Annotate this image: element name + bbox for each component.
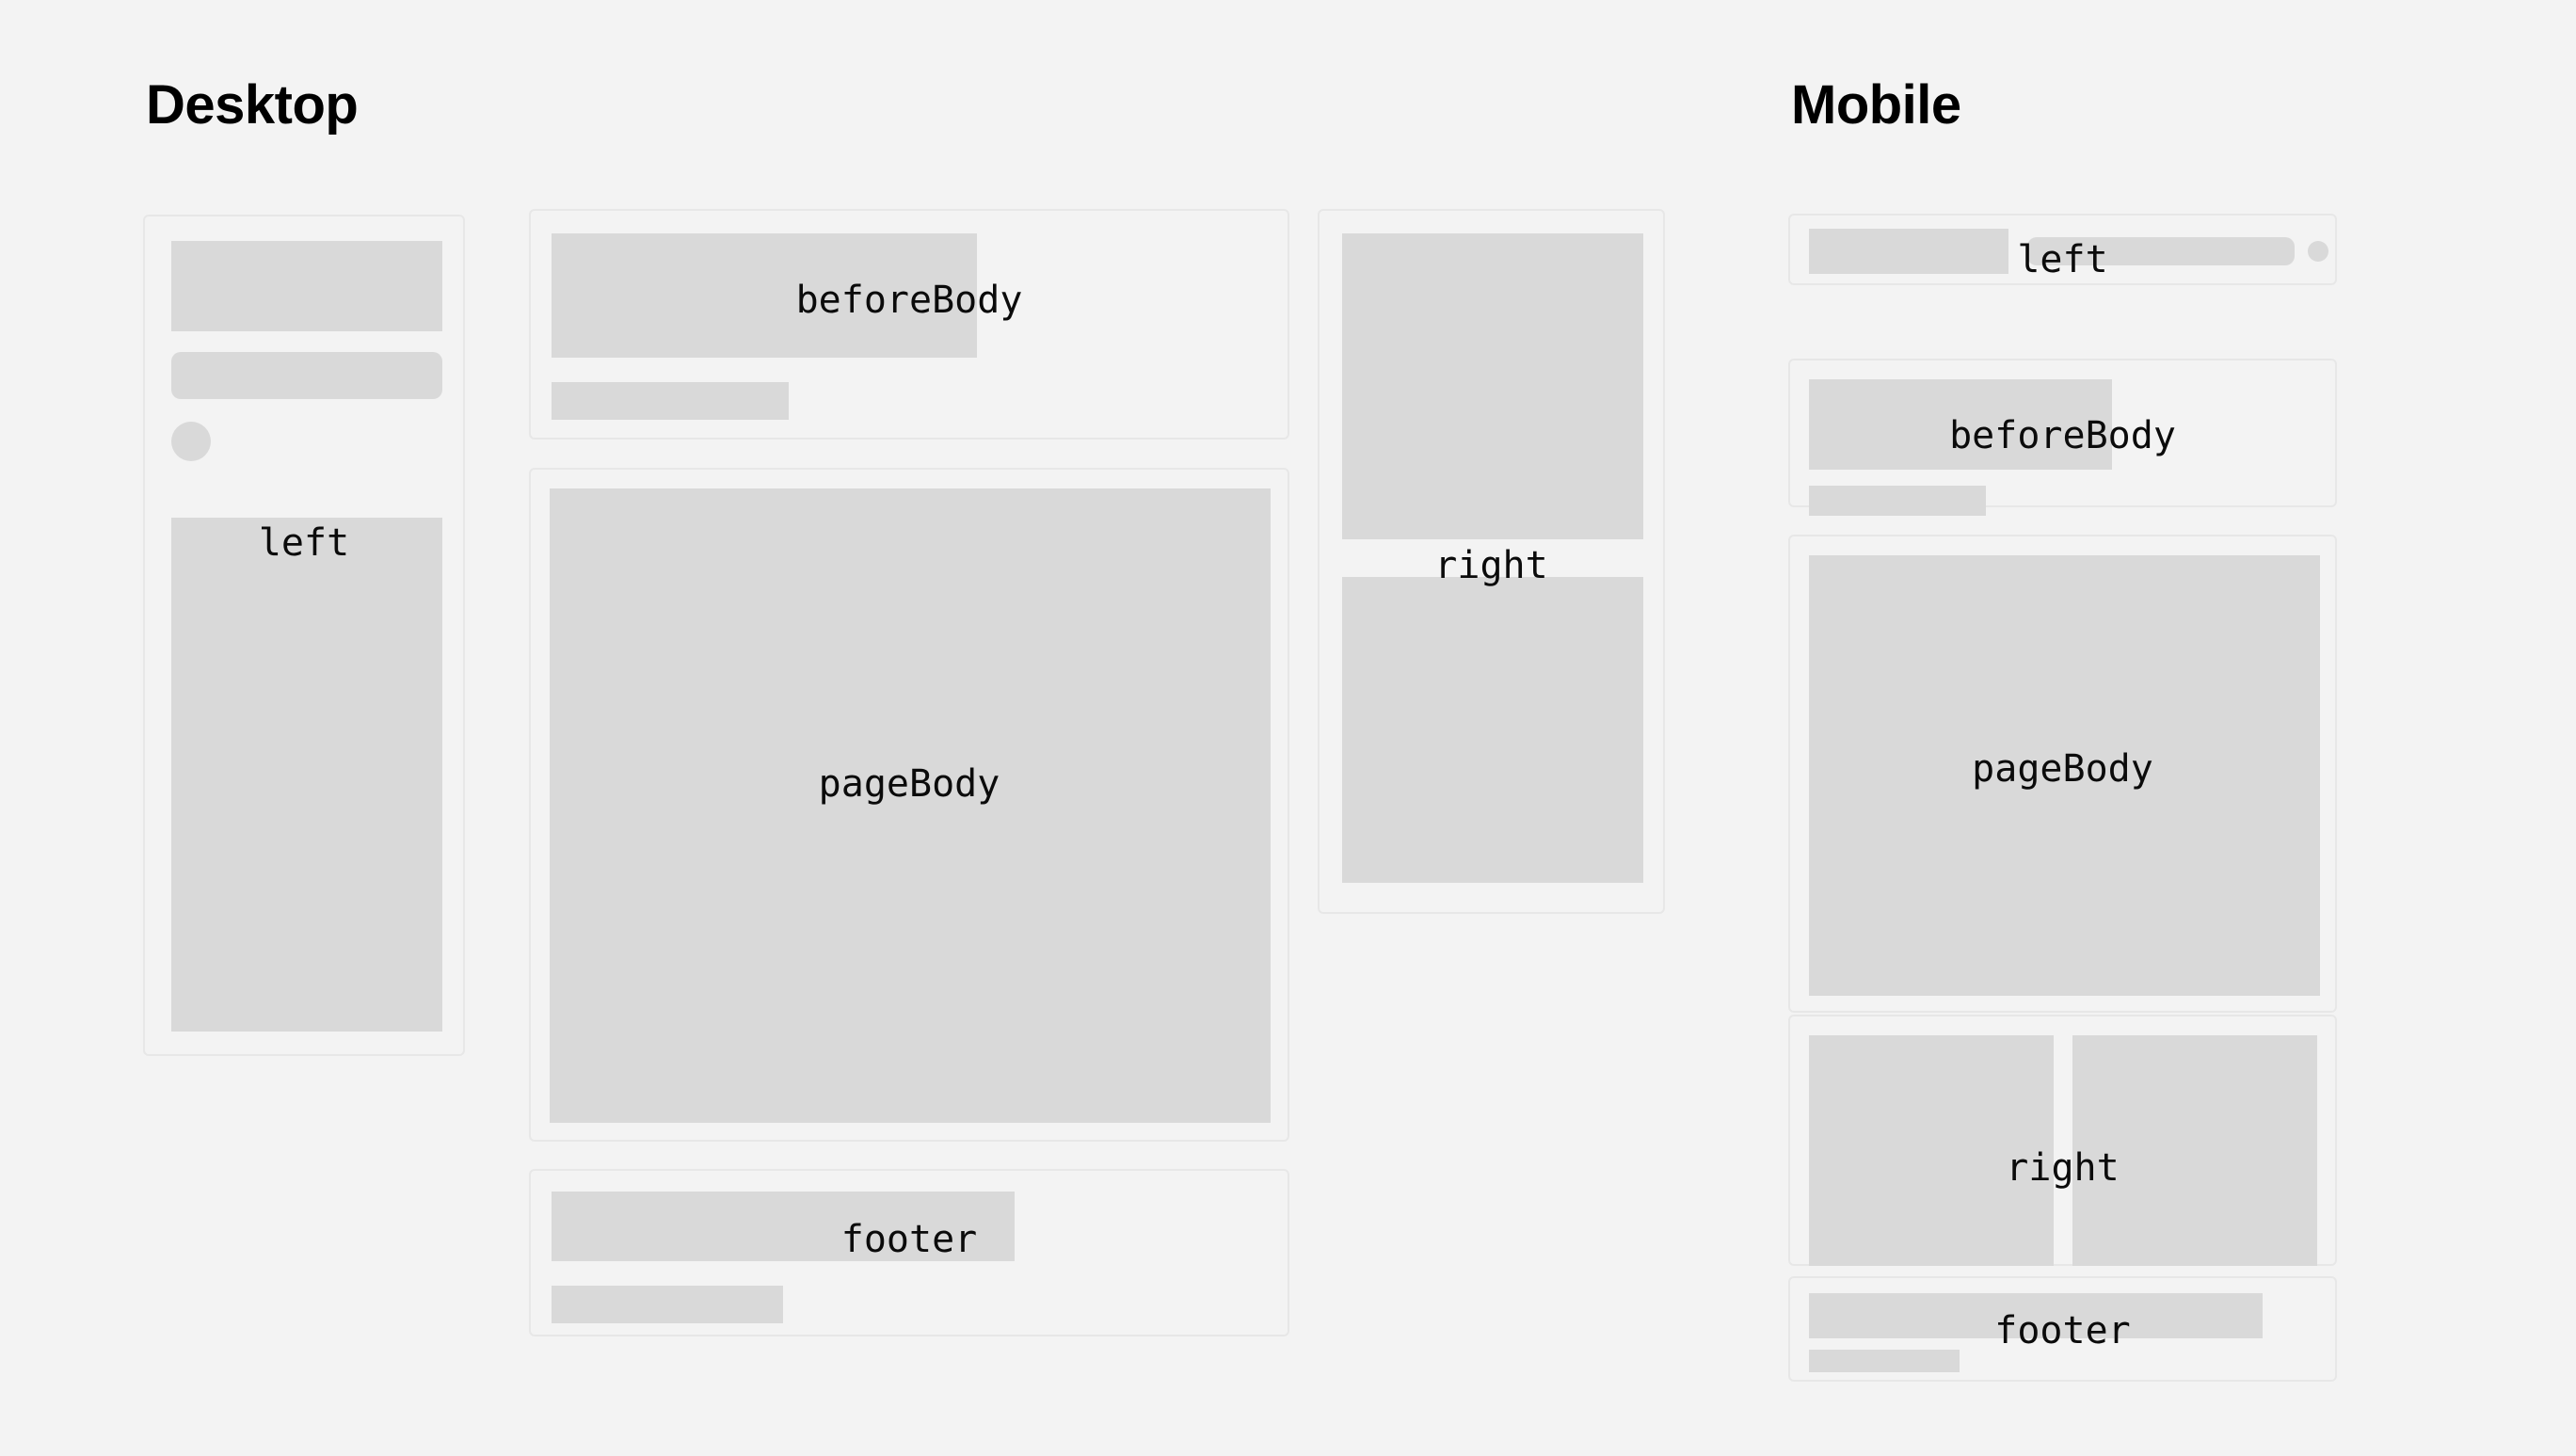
skeleton-block-bar — [552, 1286, 783, 1323]
mobile-before-body-panel[interactable] — [1788, 359, 2337, 507]
skeleton-block-bar — [171, 352, 442, 399]
skeleton-block-bar — [1809, 1350, 1960, 1372]
skeleton-block-right-column — [2072, 1035, 2317, 1266]
desktop-right-panel[interactable] — [1318, 209, 1665, 914]
skeleton-block-bar — [1809, 486, 1986, 516]
skeleton-block-bar — [2027, 237, 2295, 265]
skeleton-block-hero — [552, 1192, 1015, 1261]
mobile-left-panel[interactable] — [1788, 214, 2337, 285]
skeleton-block-hero — [1809, 229, 2008, 274]
wireframe-canvas: Desktop left beforeBody pageBody right f… — [0, 0, 2576, 1456]
desktop-left-panel[interactable] — [143, 215, 465, 1056]
skeleton-block-bar — [552, 382, 789, 420]
skeleton-block-hero — [1809, 1293, 2263, 1338]
skeleton-block-circle — [171, 422, 211, 461]
skeleton-block-tall — [171, 518, 442, 1032]
mobile-right-panel[interactable] — [1788, 1015, 2337, 1266]
mobile-footer-panel[interactable] — [1788, 1276, 2337, 1382]
mobile-page-body-panel[interactable] — [1788, 535, 2337, 1013]
skeleton-block-hero — [1809, 379, 2112, 470]
skeleton-block-circle — [2308, 241, 2328, 262]
mobile-section-title: Mobile — [1791, 78, 1961, 133]
skeleton-block-body — [550, 488, 1271, 1123]
desktop-page-body-panel[interactable] — [529, 468, 1289, 1142]
desktop-footer-panel[interactable] — [529, 1169, 1289, 1336]
skeleton-block-bottom — [1342, 577, 1643, 883]
skeleton-block-hero — [171, 241, 442, 331]
desktop-section-title: Desktop — [146, 78, 358, 133]
skeleton-block-hero — [552, 233, 977, 358]
desktop-before-body-panel[interactable] — [529, 209, 1289, 440]
skeleton-block-body — [1809, 555, 2320, 996]
skeleton-block-left-column — [1809, 1035, 2054, 1266]
skeleton-block-top — [1342, 233, 1643, 539]
